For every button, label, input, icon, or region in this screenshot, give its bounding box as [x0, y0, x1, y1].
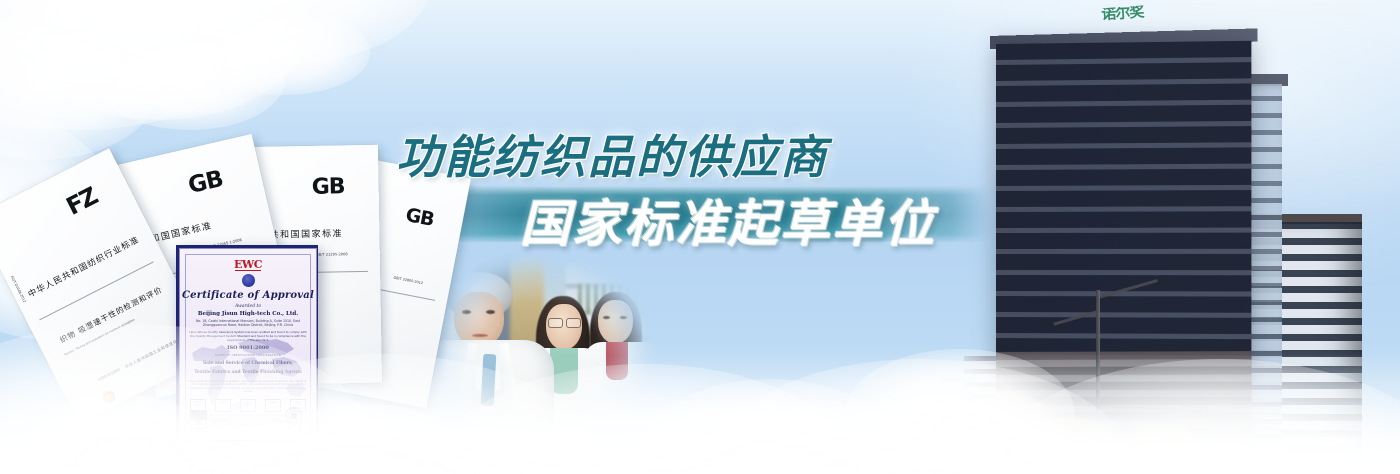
researcher-2-glasses-right: [566, 318, 581, 328]
bottom-mist-overlay: [0, 354, 1400, 474]
brand-underline: [235, 270, 261, 271]
researcher-3-eye-right: [620, 316, 627, 319]
promo-banner: 诺尔奖: [0, 0, 1400, 474]
researcher-2-glasses-left: [548, 318, 563, 328]
awarded-to-label: Awarded to: [180, 304, 316, 309]
certificate-body-text: Upon Whose Quality Assurance System has …: [187, 331, 309, 342]
anchor-emblem-icon: [242, 274, 255, 287]
certificate-address: No. 18, Caizhi International Mansion, Bu…: [186, 319, 310, 328]
standard-subject: 织物 吸湿速干性的检测和评价: [58, 284, 164, 346]
standard-code: GB/T 21295-2008: [316, 252, 348, 257]
certificate-title: Certificate of Approval: [180, 290, 316, 301]
standard-title: 中华人民共和国纺织行业标准: [26, 233, 142, 300]
standard-logo: GB: [404, 204, 436, 231]
certificate-standard: ISO 9001:2000: [180, 345, 316, 351]
certificate-company: Beijing Jisun High-tech Co., Ltd.: [180, 311, 316, 317]
researcher-1-mouth: [472, 334, 488, 337]
researcher-3-eye-left: [603, 316, 610, 319]
standard-code: GB/T 22800-2012: [393, 276, 423, 286]
researcher-1-eye-right: [486, 310, 495, 314]
researcher-3-face: [598, 300, 633, 344]
standard-logo: GB: [186, 166, 225, 199]
standard-logo: FZ: [62, 182, 101, 220]
headline-band-sheen: [430, 186, 990, 208]
standard-logo: GB: [312, 174, 345, 200]
divider: [39, 261, 153, 320]
standard-code: FZ/T 01048-2012: [10, 275, 27, 303]
rooftop-sign-text: 诺尔奖: [1101, 4, 1169, 39]
